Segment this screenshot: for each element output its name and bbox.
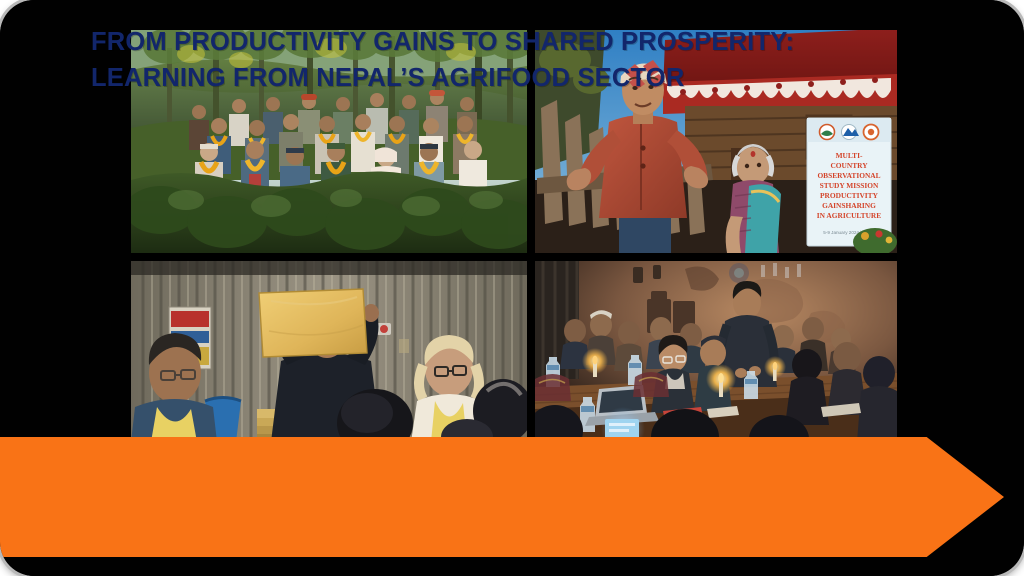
- svg-text:STUDY MISSION: STUDY MISSION: [820, 181, 879, 190]
- title-line-1: FROM PRODUCTIVITY GAINS TO SHARED PROSPE…: [91, 24, 891, 60]
- slide-title: FROM PRODUCTIVITY GAINS TO SHARED PROSPE…: [91, 24, 891, 96]
- workshop-photo-illustration: [535, 261, 897, 442]
- slide-canvas: MULTI- COUNTRY OBSERVATIONAL STUDY MISSI…: [0, 0, 1024, 576]
- photo-evening-workshop: [535, 261, 897, 442]
- demonstration-photo-illustration: [131, 261, 527, 442]
- svg-text:COUNTRY: COUNTRY: [830, 161, 868, 170]
- svg-text:OBSERVATIONAL: OBSERVATIONAL: [817, 171, 880, 180]
- svg-text:PRODUCTIVITY: PRODUCTIVITY: [820, 191, 879, 200]
- title-banner: [0, 437, 1004, 557]
- title-line-2: LEARNING FROM NEPAL’S AGRIFOOD SECTOR: [91, 60, 891, 96]
- svg-text:MULTI-: MULTI-: [836, 151, 863, 160]
- event-banner-graphic: MULTI- COUNTRY OBSERVATIONAL STUDY MISSI…: [807, 118, 891, 246]
- svg-text:GAINSHARING: GAINSHARING: [822, 201, 876, 210]
- photo-demonstration-yellow-sheet: [131, 261, 527, 442]
- svg-text:IN AGRICULTURE: IN AGRICULTURE: [817, 211, 881, 220]
